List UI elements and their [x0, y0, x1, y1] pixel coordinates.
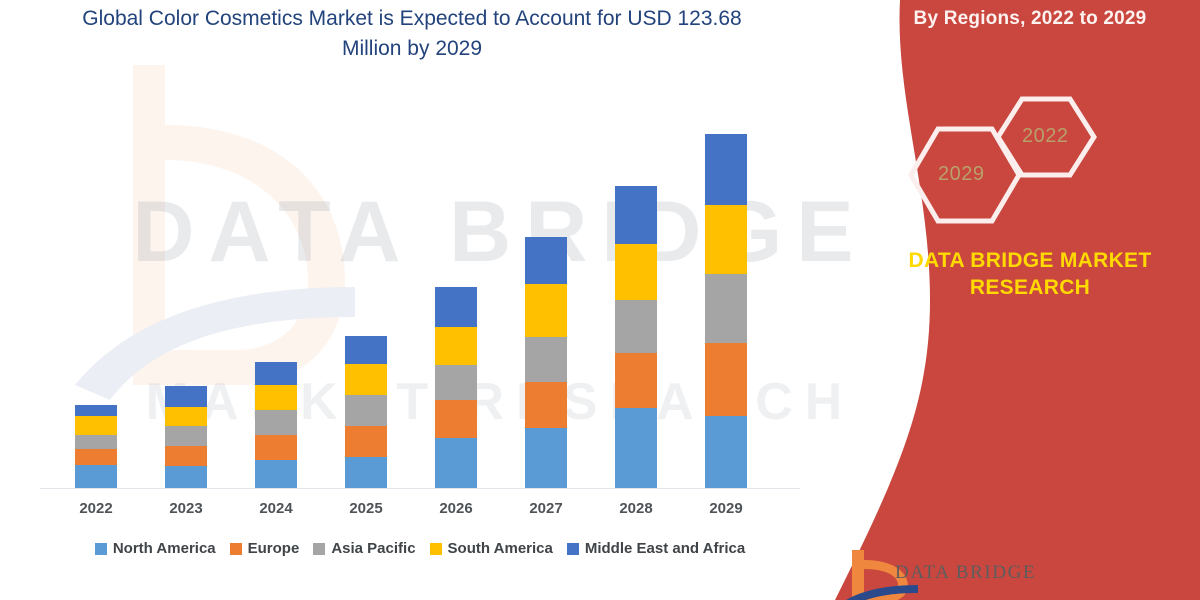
legend-item[interactable]: South America: [430, 540, 553, 557]
brand-name: DATA BRIDGE MARKET RESEARCH: [860, 248, 1200, 302]
bar-segment[interactable]: [705, 343, 747, 416]
bar-segment[interactable]: [525, 337, 567, 382]
bar-segment[interactable]: [435, 438, 477, 488]
bar-segment[interactable]: [75, 416, 117, 435]
bar-segment[interactable]: [705, 274, 747, 343]
bar-segment[interactable]: [255, 410, 297, 435]
x-axis-tick-label: 2023: [141, 500, 231, 517]
bar-column[interactable]: [75, 405, 117, 488]
legend-item[interactable]: Middle East and Africa: [567, 540, 745, 557]
bar-column[interactable]: [705, 134, 747, 488]
bar-segment[interactable]: [525, 428, 567, 488]
bar-segment[interactable]: [255, 385, 297, 410]
bar-segment[interactable]: [705, 205, 747, 274]
x-axis-tick-label: 2025: [321, 500, 411, 517]
brand-line-2: RESEARCH: [970, 276, 1090, 299]
bar-segment[interactable]: [525, 284, 567, 337]
chart-title: Global Color Cosmetics Market is Expecte…: [62, 4, 762, 64]
bar-column[interactable]: [255, 362, 297, 488]
x-axis-tick-label: 2029: [681, 500, 771, 517]
bar-segment[interactable]: [435, 327, 477, 365]
x-axis-line: [40, 488, 800, 489]
bar-column[interactable]: [525, 237, 567, 488]
infographic-canvas: DATA BRIDGE MARKET RESEARCH 202220232024…: [0, 0, 1200, 600]
bar-segment[interactable]: [75, 449, 117, 465]
legend-swatch: [567, 543, 579, 555]
hex-label-end: 2029: [938, 163, 985, 186]
legend-item[interactable]: North America: [95, 540, 216, 557]
bar-segment[interactable]: [165, 466, 207, 488]
legend-item[interactable]: Europe: [230, 540, 300, 557]
bar-segment[interactable]: [75, 435, 117, 449]
bar-segment[interactable]: [165, 426, 207, 446]
bar-segment[interactable]: [345, 426, 387, 457]
legend-swatch: [230, 543, 242, 555]
x-axis-tick-label: 2026: [411, 500, 501, 517]
bar-segment[interactable]: [345, 364, 387, 395]
footer-logo-text: DATA BRIDGE: [895, 562, 1036, 584]
legend-swatch: [313, 543, 325, 555]
bar-segment[interactable]: [345, 457, 387, 488]
legend-swatch: [95, 543, 107, 555]
stacked-bar-chart: 20222023202420252026202720282029: [0, 0, 800, 600]
chart-legend: North AmericaEuropeAsia PacificSouth Ame…: [40, 540, 800, 557]
bar-segment[interactable]: [615, 408, 657, 488]
hexagon-icon-group: [902, 95, 1122, 235]
panel-title: By Regions, 2022 to 2029: [860, 8, 1200, 30]
bar-segment[interactable]: [525, 237, 567, 284]
brand-line-1: DATA BRIDGE MARKET: [909, 249, 1152, 272]
bar-segment[interactable]: [255, 460, 297, 488]
bar-segment[interactable]: [255, 435, 297, 460]
bar-segment[interactable]: [345, 336, 387, 364]
x-axis-tick-label: 2027: [501, 500, 591, 517]
bar-segment[interactable]: [165, 407, 207, 426]
bar-segment[interactable]: [615, 186, 657, 244]
bar-segment[interactable]: [165, 446, 207, 466]
bar-segment[interactable]: [255, 362, 297, 385]
legend-label: Asia Pacific: [331, 540, 415, 557]
x-axis-tick-label: 2028: [591, 500, 681, 517]
legend-label: North America: [113, 540, 216, 557]
legend-label: Middle East and Africa: [585, 540, 745, 557]
legend-label: South America: [448, 540, 553, 557]
bar-column[interactable]: [615, 186, 657, 488]
bar-segment[interactable]: [615, 244, 657, 300]
bar-segment[interactable]: [435, 365, 477, 400]
legend-swatch: [430, 543, 442, 555]
bar-segment[interactable]: [165, 386, 207, 407]
bar-segment[interactable]: [705, 416, 747, 488]
bar-segment[interactable]: [705, 134, 747, 205]
legend-label: Europe: [248, 540, 300, 557]
bar-segment[interactable]: [75, 405, 117, 416]
bar-segment[interactable]: [615, 353, 657, 408]
hexagon-badges: 2022 2029: [902, 95, 1122, 235]
bar-column[interactable]: [345, 336, 387, 488]
bar-column[interactable]: [165, 386, 207, 488]
bar-segment[interactable]: [525, 382, 567, 428]
x-axis-tick-label: 2022: [51, 500, 141, 517]
x-axis-tick-label: 2024: [231, 500, 321, 517]
bar-segment[interactable]: [435, 287, 477, 327]
bar-segment[interactable]: [75, 465, 117, 488]
bar-segment[interactable]: [615, 300, 657, 353]
bar-segment[interactable]: [435, 400, 477, 438]
bar-column[interactable]: [435, 287, 477, 488]
hex-label-start: 2022: [1022, 125, 1069, 148]
legend-item[interactable]: Asia Pacific: [313, 540, 415, 557]
bar-segment[interactable]: [345, 395, 387, 426]
